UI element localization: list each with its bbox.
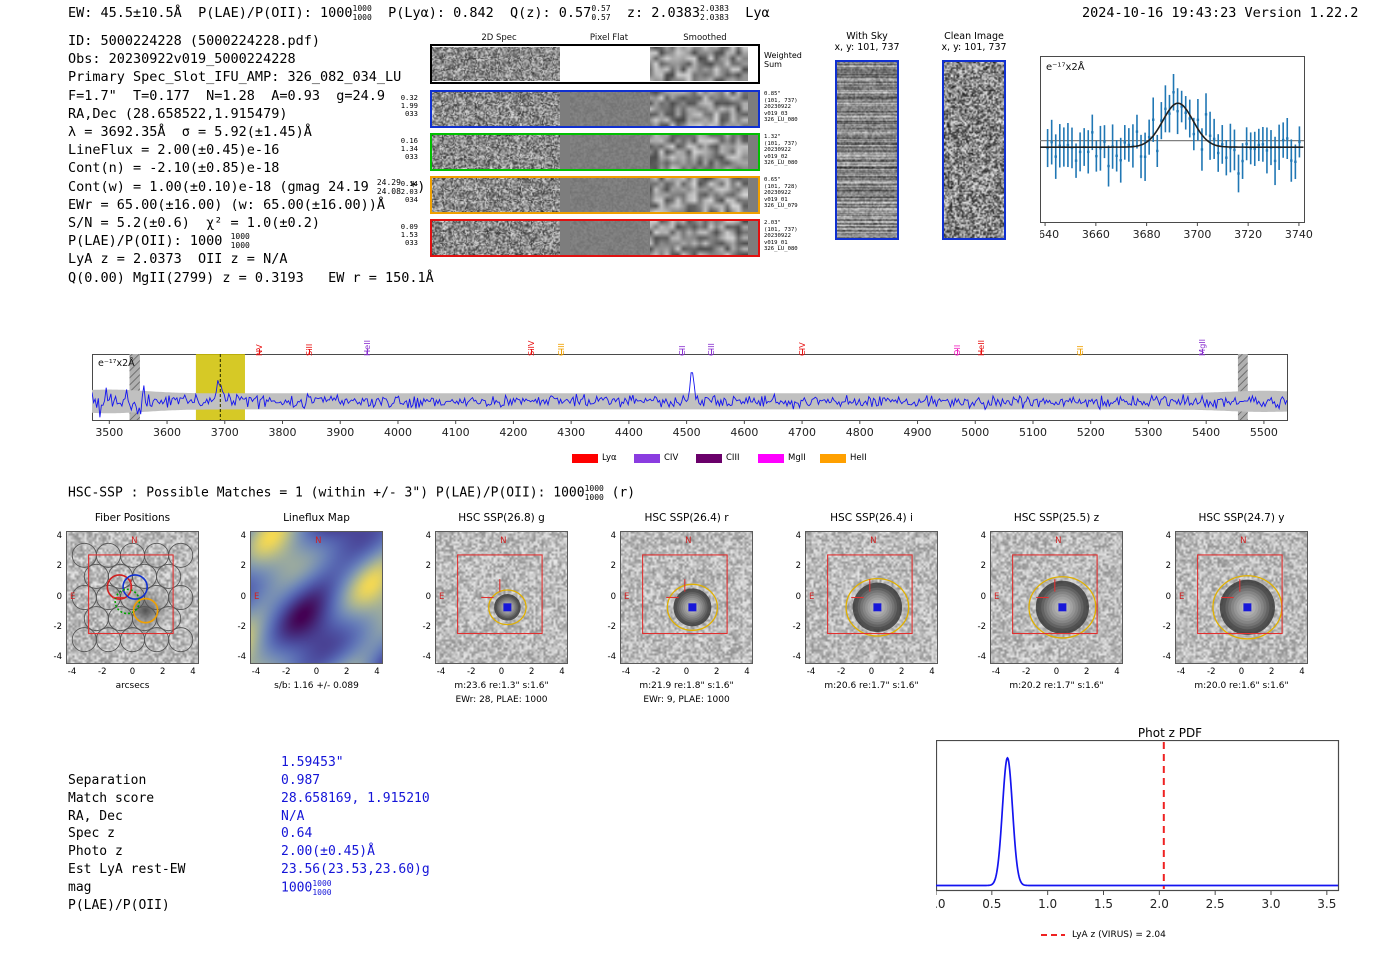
match-value-2: 28.658169, 1.915210 <box>281 790 430 808</box>
cutout-sub1-0: arcsecs <box>36 681 229 691</box>
legend-swatch-Lyα <box>572 454 598 463</box>
legend-label-1: CIV <box>664 453 678 463</box>
cutout-0-xtick-0: -4 <box>63 667 81 677</box>
cutout-3-ytick-1: -2 <box>600 622 616 632</box>
compass-e-2: E <box>439 592 444 602</box>
cutout-0-xtick-4: 4 <box>184 667 202 677</box>
cutout-image-0 <box>66 531 199 664</box>
cutout-title-3: HSC SSP(26.4) r <box>592 512 781 524</box>
cutout-6-xtick-2: 0 <box>1233 667 1251 677</box>
cutout-5-xtick-4: 4 <box>1108 667 1126 677</box>
cutout-1-ytick-0: -4 <box>230 652 246 662</box>
compass-e-4: E <box>809 592 814 602</box>
cutout-2-xtick-2: 0 <box>493 667 511 677</box>
cutout-0-ytick-1: -2 <box>46 622 62 632</box>
cutout-1-xtick-4: 4 <box>368 667 386 677</box>
cutout-image-6 <box>1175 531 1308 664</box>
cutout-title-0: Fiber Positions <box>38 512 227 524</box>
line-marker-tick-0 <box>259 349 260 355</box>
cutout-0-xtick-2: 0 <box>124 667 142 677</box>
cutout-3-ytick-4: 4 <box>600 531 616 541</box>
line-marker-tick-7 <box>802 349 803 355</box>
cutout-6-xtick-0: -4 <box>1172 667 1190 677</box>
cutout-6-xtick-4: 4 <box>1293 667 1311 677</box>
cutout-image-5 <box>990 531 1123 664</box>
legend-label-4: HeII <box>850 453 867 463</box>
dashed-line-icon <box>1040 930 1066 940</box>
cutout-6-xtick-1: -2 <box>1202 667 1220 677</box>
compass-e-6: E <box>1179 592 1184 602</box>
svg-text:0.5: 0.5 <box>982 897 1001 911</box>
match-key-0: Separation <box>68 772 146 790</box>
line-marker-tick-1 <box>309 349 310 355</box>
photz-legend-label: LyA z (VIRUS) = 2.04 <box>1072 930 1166 940</box>
legend-swatch-MgII <box>758 454 784 463</box>
cutout-0-xtick-3: 2 <box>154 667 172 677</box>
cutout-6-ytick-4: 4 <box>1155 531 1171 541</box>
cutout-6-ytick-3: 2 <box>1155 561 1171 571</box>
cutout-sub1-2: m:23.6 re:1.3" s:1.6" <box>405 681 598 691</box>
cutout-4-xtick-4: 4 <box>923 667 941 677</box>
cutout-sub2-3: EWr: 9, PLAE: 1000 <box>590 695 783 705</box>
match-value-4: 0.64 <box>281 825 312 843</box>
match-key-7: P(LAE)/P(OII) <box>68 897 170 915</box>
match-detail-table: SeparationMatch scoreRA, DecSpec zPhoto … <box>68 772 488 932</box>
match-value-1: 0.987 <box>281 772 320 790</box>
legend-swatch-HeII <box>820 454 846 463</box>
match-value-6: 23.56(23.53,23.60)g <box>281 861 430 879</box>
cutout-2-xtick-4: 4 <box>553 667 571 677</box>
compass-n-2: N <box>500 536 506 546</box>
match-value-7: 100010001000 <box>281 879 332 897</box>
cutout-image-1 <box>250 531 383 664</box>
spectrum-legend-item-1: CIV <box>634 453 678 463</box>
cutout-title-2: HSC SSP(26.8) g <box>407 512 596 524</box>
cutout-sub1-4: m:20.6 re:1.7" s:1.6" <box>775 681 968 691</box>
cutout-sub2-2: EWr: 28, PLAE: 1000 <box>405 695 598 705</box>
compass-n-1: N <box>315 536 321 546</box>
cutout-0-ytick-0: -4 <box>46 652 62 662</box>
cutout-5-xtick-3: 2 <box>1078 667 1096 677</box>
cutout-title-1: Lineflux Map <box>222 512 411 524</box>
cutout-image-2 <box>435 531 568 664</box>
line-marker-tick-3 <box>531 349 532 355</box>
cutout-title-4: HSC SSP(26.4) i <box>777 512 966 524</box>
cutout-1-xtick-1: -2 <box>277 667 295 677</box>
cutout-title-5: HSC SSP(25.5) z <box>962 512 1151 524</box>
cutout-sub1-6: m:20.0 re:1.6" s:1.6" <box>1145 681 1338 691</box>
compass-n-4: N <box>870 536 876 546</box>
line-marker-tick-9 <box>981 349 982 355</box>
cutout-5-xtick-2: 0 <box>1048 667 1066 677</box>
svg-text:3.0: 3.0 <box>1261 897 1280 911</box>
cutout-3-ytick-3: 2 <box>600 561 616 571</box>
legend-swatch-CIV <box>634 454 660 463</box>
cutout-3-xtick-1: -2 <box>647 667 665 677</box>
line-marker-tick-5 <box>682 349 683 355</box>
cutout-sub1-3: m:21.9 re:1.8" s:1.6" <box>590 681 783 691</box>
legend-label-3: MgII <box>788 453 806 463</box>
cutout-5-xtick-1: -2 <box>1017 667 1035 677</box>
cutout-1-ytick-4: 4 <box>230 531 246 541</box>
cutout-4-ytick-4: 4 <box>785 531 801 541</box>
photz-legend: LyA z (VIRUS) = 2.04 <box>1040 930 1166 940</box>
match-key-3: Spec z <box>68 825 115 843</box>
photz-title: Phot z PDF <box>1090 726 1250 740</box>
match-value-0: 1.59453" <box>281 754 344 772</box>
match-plae-range: 10001000 <box>312 879 331 897</box>
cutout-2-ytick-3: 2 <box>415 561 431 571</box>
cutout-1-ytick-2: 0 <box>230 592 246 602</box>
spectrum-legend-item-4: HeII <box>820 453 867 463</box>
cutout-2-xtick-0: -4 <box>432 667 450 677</box>
cutout-3-ytick-2: 0 <box>600 592 616 602</box>
cutout-image-3 <box>620 531 753 664</box>
match-key-4: Photo z <box>68 843 123 861</box>
compass-n-3: N <box>685 536 691 546</box>
match-key-1: Match score <box>68 790 154 808</box>
cutout-6-ytick-2: 0 <box>1155 592 1171 602</box>
cutout-1-xtick-0: -4 <box>247 667 265 677</box>
cutout-4-xtick-2: 0 <box>863 667 881 677</box>
cutout-1-xtick-2: 0 <box>308 667 326 677</box>
match-key-6: mag <box>68 879 91 897</box>
cutout-5-ytick-1: -2 <box>970 622 986 632</box>
compass-n-6: N <box>1240 536 1246 546</box>
compass-e-3: E <box>624 592 629 602</box>
cutout-2-xtick-1: -2 <box>462 667 480 677</box>
cutout-5-ytick-3: 2 <box>970 561 986 571</box>
cutout-4-ytick-1: -2 <box>785 622 801 632</box>
cutout-4-ytick-3: 2 <box>785 561 801 571</box>
cutout-4-xtick-3: 2 <box>893 667 911 677</box>
line-marker-tick-8 <box>957 349 958 355</box>
cutout-6-ytick-1: -2 <box>1155 622 1171 632</box>
match-key-5: Est LyA rest-EW <box>68 861 185 879</box>
spectrum-legend-item-2: CIII <box>696 453 739 463</box>
svg-text:2.5: 2.5 <box>1206 897 1225 911</box>
cutout-4-xtick-1: -2 <box>832 667 850 677</box>
spectrum-legend-item-3: MgII <box>758 453 806 463</box>
cutout-4-xtick-0: -4 <box>802 667 820 677</box>
cutout-4-ytick-0: -4 <box>785 652 801 662</box>
spectrum-legend-item-0: Lyα <box>572 453 617 463</box>
cutout-2-ytick-0: -4 <box>415 652 431 662</box>
line-marker-tick-6 <box>711 349 712 355</box>
line-marker-tick-11 <box>1202 349 1203 355</box>
compass-e-5: E <box>994 592 999 602</box>
line-marker-tick-4 <box>561 349 562 355</box>
svg-text:2.0: 2.0 <box>1150 897 1169 911</box>
photz-pdf-chart: 0.00.51.01.52.02.53.03.5 <box>936 740 1358 930</box>
cutout-5-ytick-4: 4 <box>970 531 986 541</box>
compass-e-1: E <box>254 592 259 602</box>
cutout-3-xtick-2: 0 <box>678 667 696 677</box>
cutout-row: Fiber PositionsNE-4-2024-4-2024arcsecsLi… <box>0 0 1400 740</box>
cutout-3-xtick-3: 2 <box>708 667 726 677</box>
cutout-sub1-1: s/b: 1.16 +/- 0.089 <box>220 681 413 691</box>
svg-text:0.0: 0.0 <box>936 897 946 911</box>
match-key-2: RA, Dec <box>68 808 123 826</box>
svg-text:1.5: 1.5 <box>1094 897 1113 911</box>
svg-text:3.5: 3.5 <box>1317 897 1336 911</box>
cutout-sub1-5: m:20.2 re:1.7" s:1.6" <box>960 681 1153 691</box>
cutout-1-ytick-1: -2 <box>230 622 246 632</box>
cutout-0-ytick-2: 0 <box>46 592 62 602</box>
legend-label-0: Lyα <box>602 453 617 463</box>
match-value-5: 2.00(±0.45)Å <box>281 843 375 861</box>
cutout-5-ytick-2: 0 <box>970 592 986 602</box>
cutout-2-ytick-2: 0 <box>415 592 431 602</box>
compass-n-0: N <box>131 536 137 546</box>
legend-swatch-CIII <box>696 454 722 463</box>
cutout-1-xtick-3: 2 <box>338 667 356 677</box>
line-marker-tick-10 <box>1080 349 1081 355</box>
match-value-3: N/A <box>281 808 304 826</box>
compass-n-5: N <box>1055 536 1061 546</box>
cutout-0-ytick-4: 4 <box>46 531 62 541</box>
cutout-2-ytick-4: 4 <box>415 531 431 541</box>
cutout-title-6: HSC SSP(24.7) y <box>1147 512 1336 524</box>
cutout-5-ytick-0: -4 <box>970 652 986 662</box>
cutout-6-ytick-0: -4 <box>1155 652 1171 662</box>
cutout-image-4 <box>805 531 938 664</box>
svg-text:1.0: 1.0 <box>1038 897 1057 911</box>
cutout-3-xtick-4: 4 <box>738 667 756 677</box>
cutout-2-xtick-3: 2 <box>523 667 541 677</box>
compass-e-0: E <box>70 592 75 602</box>
cutout-2-ytick-1: -2 <box>415 622 431 632</box>
cutout-3-ytick-0: -4 <box>600 652 616 662</box>
line-marker-tick-2 <box>367 349 368 355</box>
cutout-3-xtick-0: -4 <box>617 667 635 677</box>
cutout-4-ytick-2: 0 <box>785 592 801 602</box>
cutout-1-ytick-3: 2 <box>230 561 246 571</box>
cutout-5-xtick-0: -4 <box>987 667 1005 677</box>
cutout-0-ytick-3: 2 <box>46 561 62 571</box>
cutout-0-xtick-1: -2 <box>93 667 111 677</box>
legend-label-2: CIII <box>726 453 739 463</box>
cutout-6-xtick-3: 2 <box>1263 667 1281 677</box>
